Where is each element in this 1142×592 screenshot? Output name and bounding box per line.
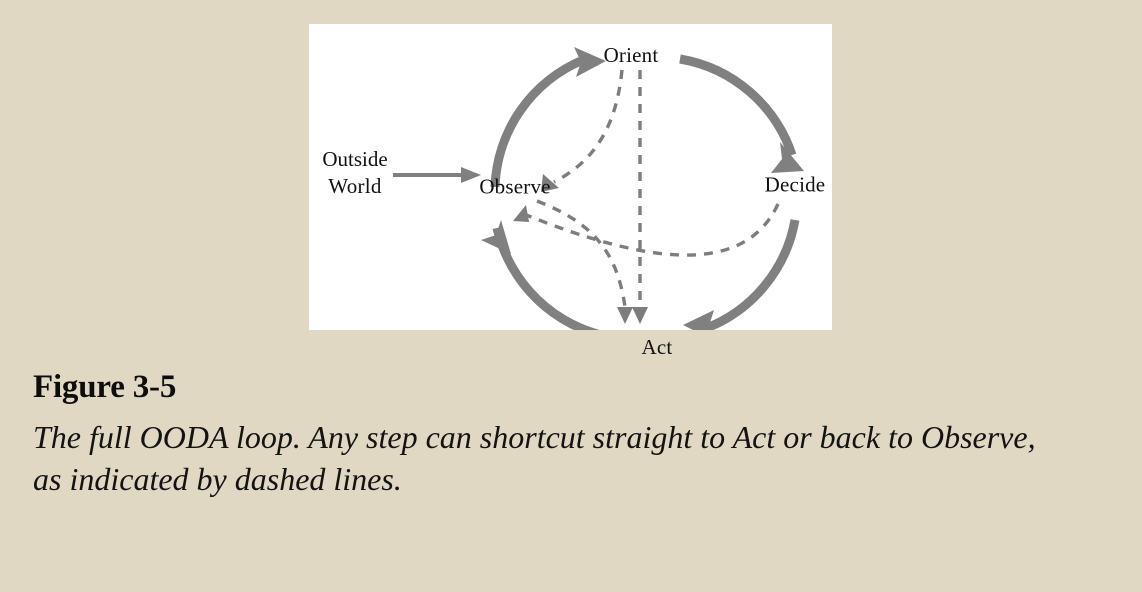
outside-world-line-2: World [309,173,401,200]
node-label-act: Act [642,336,673,359]
outside-world-line-1: Outside [309,146,401,173]
outside-world-label: Outside World [309,146,401,200]
dashed-arrowhead-act-from-orient [632,307,648,324]
dashed-shortcut-group [519,70,778,307]
outside-world-arrowhead [461,167,481,183]
node-label-decide: Decide [765,174,826,197]
figure-page: Orient Decide Act Observe Outside World … [0,0,1142,592]
arc-decide-to-act [704,220,795,329]
arc-act-to-observe [497,228,610,330]
node-label-orient: Orient [604,44,659,67]
node-label-observe: Observe [479,176,550,199]
arc-orient-to-decide [680,59,792,155]
dashed-arrowhead-observe-from-decide [513,205,529,222]
dash-observe-to-act [537,201,625,307]
outside-world-arrow [393,162,481,188]
dash-orient-to-observe [554,70,622,182]
figure-caption-text: The full OODA loop. Any step can shortcu… [33,416,1043,500]
arc-observe-to-orient [495,60,583,187]
arrowhead-at-observe [481,220,511,254]
figure-caption-block: Figure 3-5 The full OODA loop. Any step … [33,368,1093,500]
figure-number: Figure 3-5 [33,368,1093,407]
dashed-arrowhead-act-from-observe [617,307,633,324]
